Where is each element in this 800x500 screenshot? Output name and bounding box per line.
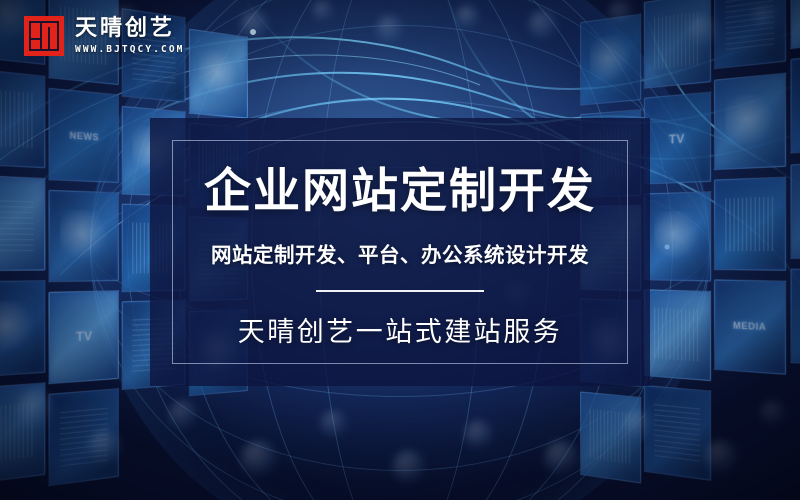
tagline: 天晴创艺一站式建站服务	[238, 310, 563, 349]
headline-panel: 企业网站定制开发 网站定制开发、平台、办公系统设计开发 天晴创艺一站式建站服务	[150, 118, 650, 386]
promo-banner: NEWSTV TVMEDIA 天晴创艺 WWW.BJTQCY.COM 企业网站定…	[0, 0, 800, 500]
brand-website: WWW.BJTQCY.COM	[75, 45, 184, 55]
panel-inner-frame: 企业网站定制开发 网站定制开发、平台、办公系统设计开发 天晴创艺一站式建站服务	[172, 140, 628, 364]
brand-name: 天晴创艺	[75, 17, 184, 39]
logo-text: 天晴创艺 WWW.BJTQCY.COM	[75, 17, 184, 55]
page-title: 企业网站定制开发	[204, 169, 596, 216]
divider	[316, 290, 484, 292]
subtitle: 网站定制开发、平台、办公系统设计开发	[211, 238, 589, 268]
logo-mark-icon	[24, 16, 64, 56]
brand-logo[interactable]: 天晴创艺 WWW.BJTQCY.COM	[24, 16, 184, 56]
